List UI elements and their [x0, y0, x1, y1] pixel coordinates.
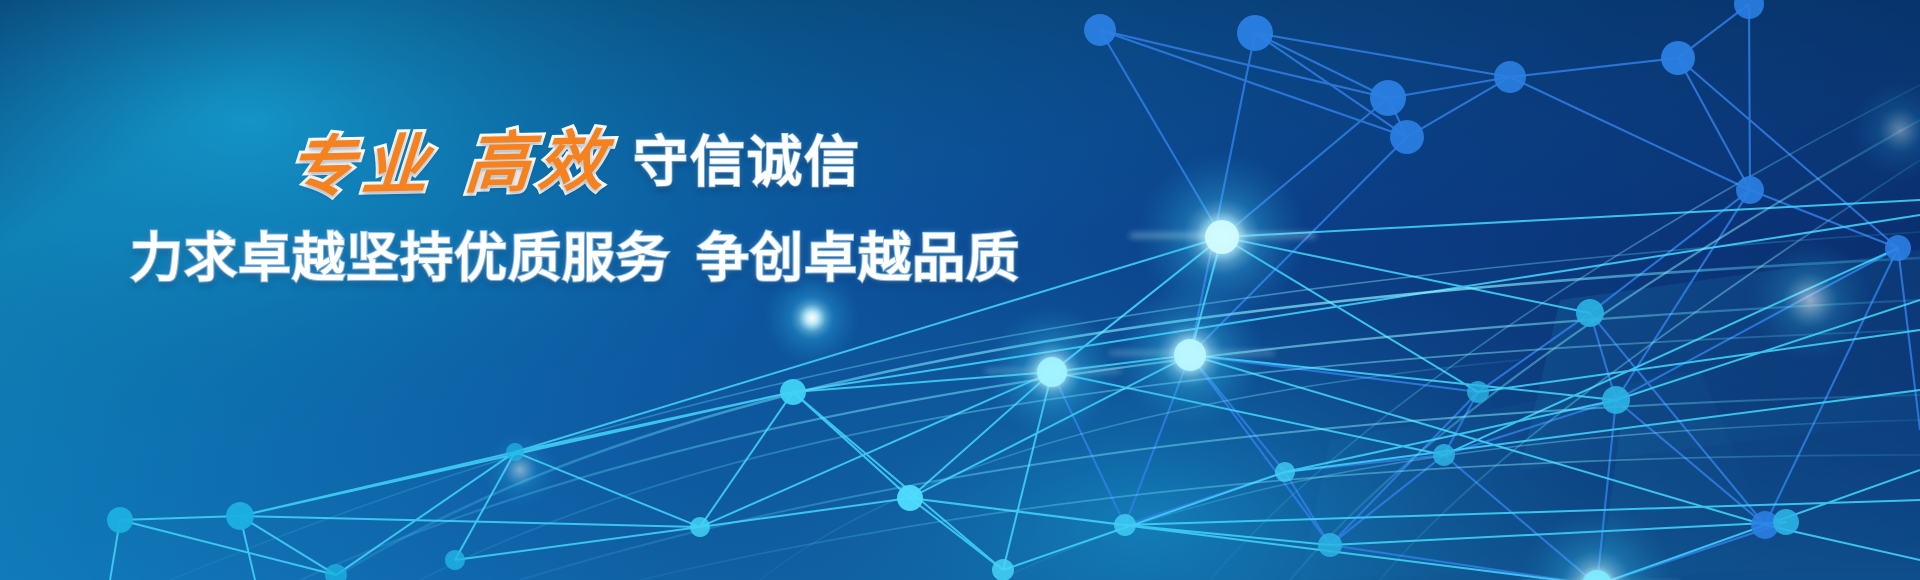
network-background-graphic: [0, 0, 1920, 580]
promo-banner: 专业 高效守信诚信 力求卓越坚持优质服务争创卓越品质: [0, 0, 1920, 580]
